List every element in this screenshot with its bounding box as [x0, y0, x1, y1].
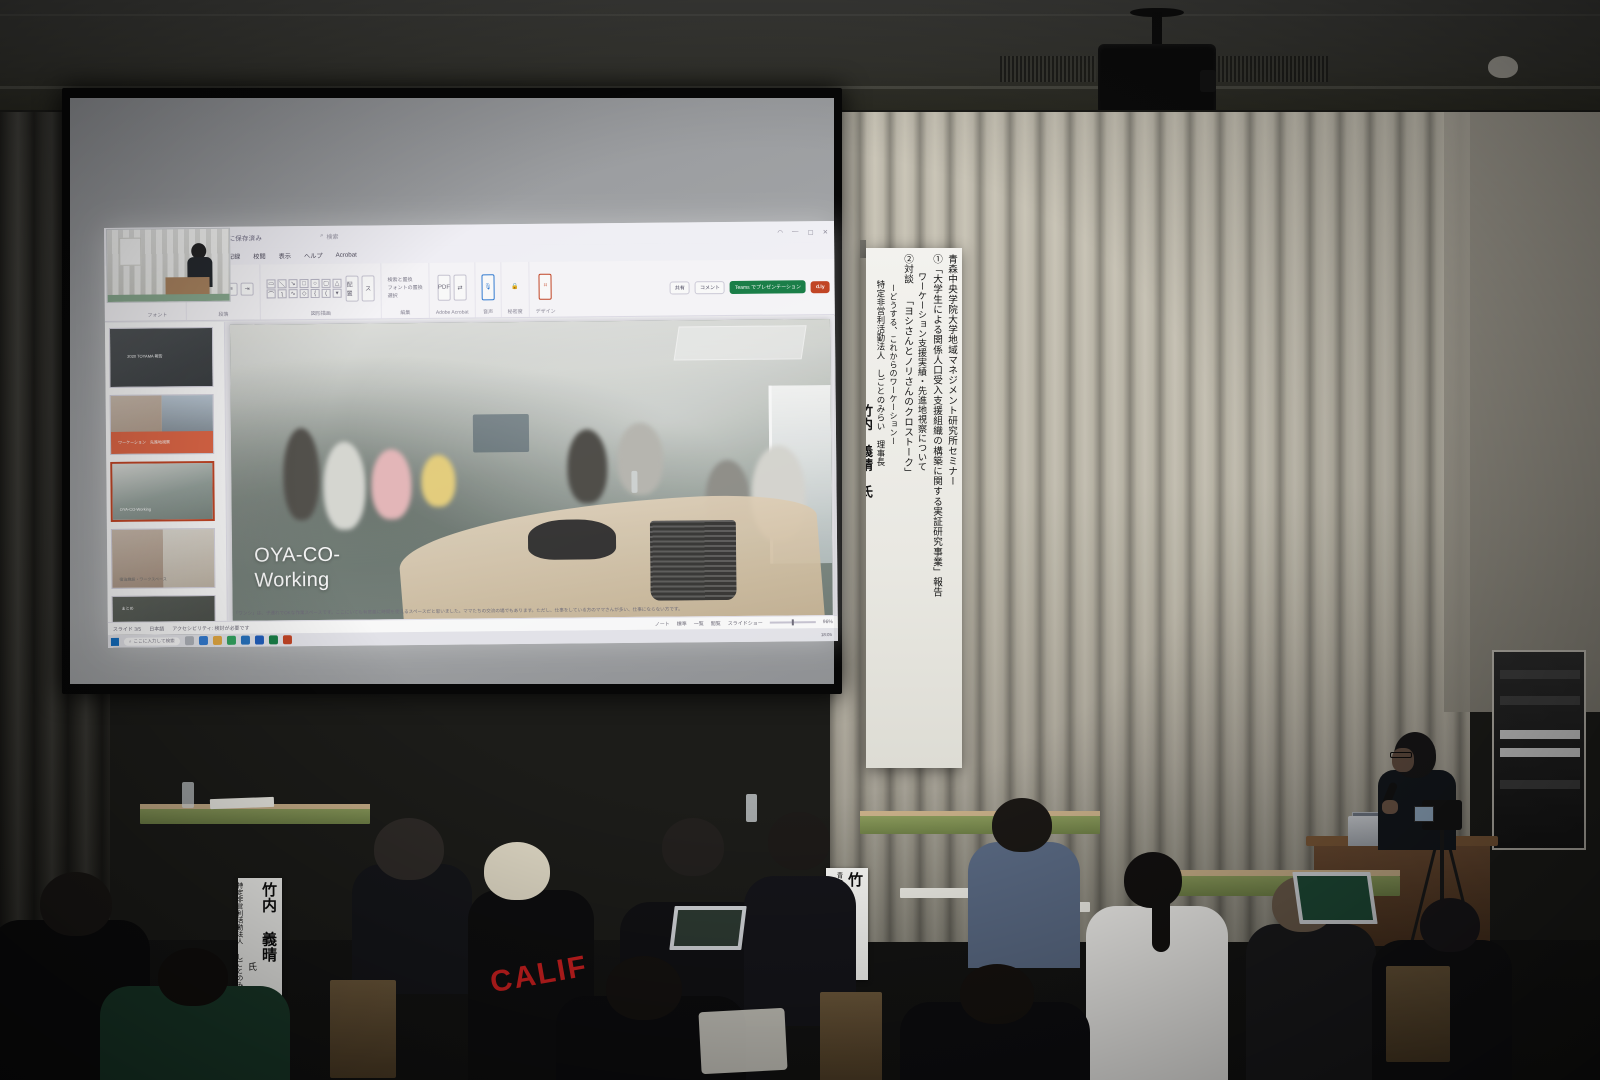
glasses-icon: [1390, 752, 1412, 758]
ribbon-group-label: 段落: [218, 311, 228, 320]
audience-head: [960, 964, 1034, 1024]
banner-line-topic-1-sub: ワーケーション支援実績・先進地視察について: [915, 272, 928, 762]
chair-back: [1386, 966, 1450, 1062]
shape-rect-icon[interactable]: ▭: [267, 279, 276, 288]
audience-head: [158, 948, 228, 1006]
chair-back: [330, 980, 396, 1078]
view-normal-button[interactable]: 標準: [677, 620, 687, 627]
photo-person: [567, 429, 608, 503]
shape-freeform-icon[interactable]: ʅ: [278, 289, 287, 298]
edge-icon[interactable]: [199, 636, 208, 645]
share-pdf-link-icon[interactable]: ⇄: [453, 275, 466, 301]
placard-affiliation: 特定非営利活動法人 しごとのみらい 理事長: [238, 882, 244, 992]
audience-laptop-screen: [674, 910, 742, 946]
zoom-level[interactable]: 96%: [823, 619, 833, 625]
seminar-hall-scene: 総括書_221128 修я拡張 • このPC に保存済み ⌕ 検索 ◠ — ▢ …: [0, 0, 1600, 1080]
audience-head: [606, 956, 682, 1020]
ceiling-vent-left: [1000, 56, 1096, 82]
restore-button[interactable]: ▢: [807, 228, 813, 236]
window-controls: ◠ — ▢ ✕: [777, 228, 828, 236]
sensitivity-icon[interactable]: 🔒: [508, 273, 521, 299]
account-icon[interactable]: ◠: [777, 228, 783, 236]
slide-thumbnail[interactable]: 2 ワーケーション 先進地視察: [110, 394, 215, 455]
projection-screen-frame: 総括書_221128 修я拡張 • このPC に保存済み ⌕ 検索 ◠ — ▢ …: [62, 88, 842, 694]
share-button[interactable]: 共有: [670, 281, 690, 294]
shape-square-icon[interactable]: □: [299, 279, 308, 288]
search-icon: ⌕: [129, 639, 132, 644]
comments-button[interactable]: コメント: [695, 281, 725, 294]
audience-person: [968, 842, 1080, 968]
photo-basket: [650, 520, 737, 601]
view-sorter-button[interactable]: 一覧: [694, 620, 704, 627]
projected-powerpoint-window[interactable]: 総括書_221128 修я拡張 • このPC に保存済み ⌕ 検索 ◠ — ▢ …: [104, 221, 838, 648]
slide-indicator: スライド 3/5: [113, 625, 141, 632]
ribbon-group-label: Adobe Acrobat: [436, 310, 469, 318]
shape-rounded-icon[interactable]: ▢: [321, 279, 330, 288]
folder-icon[interactable]: [213, 636, 222, 645]
audience-person: [1246, 924, 1376, 1080]
rack-slot: [1500, 748, 1580, 757]
webcam-floor-strip: [108, 294, 230, 302]
audience-head: [662, 818, 724, 876]
present-in-teams-button[interactable]: Teams でプレゼンテーション: [730, 280, 806, 294]
indent-icon[interactable]: ⇥: [241, 283, 254, 296]
quick-style-icon[interactable]: ス: [361, 275, 374, 301]
tab-view[interactable]: 表示: [279, 251, 291, 260]
smoke-detector: [1488, 56, 1518, 78]
audience-head: [992, 798, 1052, 852]
ribbon-group-label: 音声: [483, 308, 493, 317]
ribbon-group-label: 秘密度: [508, 308, 523, 317]
wall-panel-right: [1444, 112, 1600, 712]
audience-foreground: 竹内 義晴 氏 特定非営利活動法人 しごとのみらい 理事長 竹 青森中央学院大学…: [0, 780, 1600, 1080]
ribbon-group-voice: 🎙 音声: [475, 262, 502, 317]
thumbnail-title: 宿泊施設・ワークスペース: [116, 573, 170, 586]
ribbon-group-drawing: ▭ ＼ ↘ □ ○ ▢ △ ⌒ ʅ ∿ ◇ {: [260, 263, 382, 319]
water-bottle: [746, 794, 757, 822]
desk-edge: [860, 811, 1100, 816]
shape-scribble-icon[interactable]: ∿: [289, 289, 298, 298]
audience-head: [1420, 898, 1480, 952]
replace-font-label[interactable]: フォントの置換: [388, 284, 423, 291]
ribbon-group-editing: 検索と置換 フォントの置換 選択 編集: [381, 263, 430, 318]
audience-head: [374, 818, 444, 880]
create-pdf-icon[interactable]: PDF: [437, 275, 450, 301]
tab-acrobat[interactable]: Acrobat: [336, 252, 357, 259]
accessibility-indicator[interactable]: アクセシビリティ: 検討が必要です: [172, 624, 249, 632]
shape-triangle-icon[interactable]: △: [332, 279, 341, 288]
ceiling-vent-right: [1218, 56, 1328, 82]
photo-ceiling-aircon: [674, 325, 807, 360]
dictation-icon[interactable]: 🎙: [481, 274, 494, 300]
placard-person-name: 竹内 義晴: [259, 882, 280, 992]
status-bar-right: ノート 標準 一覧 閲覧 スライドショー 96%: [655, 619, 833, 628]
shape-line-icon[interactable]: ＼: [278, 279, 287, 288]
placard-takeuchi-yoshiharu: 竹内 義晴 氏 特定非営利活動法人 しごとのみらい 理事長: [238, 878, 282, 996]
photo-person: [323, 442, 366, 530]
ribbon-right-actions: 共有 コメント Teams でプレゼンテーション d.ly: [670, 259, 835, 316]
webcam-inset[interactable]: [106, 228, 231, 303]
rack-slot: [1500, 670, 1580, 679]
slide-caption: OYA-CO- Working: [254, 543, 341, 593]
chrome-icon[interactable]: [227, 636, 236, 645]
photo-person: [371, 449, 412, 519]
photo-person: [283, 428, 320, 520]
ribbon-group-acrobat: PDF ⇄ Adobe Acrobat: [429, 262, 475, 317]
event-banner: 青森中央学院大学地域マネジメント研究所セミナー ①「大学生による関係人口受入支援…: [866, 248, 962, 768]
projector-mount-arm: [1152, 12, 1162, 46]
audience-laptop-screen: [1297, 876, 1373, 920]
slide-caption-line-2: Working: [254, 567, 340, 592]
ribbon-group-items: ⌗: [539, 265, 552, 308]
slide-caption-line-1: OYA-CO-: [254, 543, 340, 568]
ribbon-group-label: デザイン: [536, 308, 556, 317]
slide-thumbnail-selected[interactable]: 3 OYA-CO-Working: [110, 461, 215, 522]
find-replace-label[interactable]: 検索と置換: [387, 276, 412, 283]
rack-slot: [1500, 730, 1580, 739]
ribbon-group-items: 🔒: [508, 265, 521, 308]
projection-screen-surface: 総括書_221128 修я拡張 • このPC に保存済み ⌕ 検索 ◠ — ▢ …: [70, 98, 834, 684]
photo-bottle: [631, 471, 637, 493]
audience-head: [40, 872, 112, 936]
language-indicator[interactable]: 日本語: [149, 625, 164, 632]
taskbar-search-box[interactable]: ⌕ ここに入力して検索: [124, 637, 180, 646]
zoom-slider[interactable]: [770, 621, 816, 623]
ribbon-group-label: 編集: [400, 309, 410, 318]
thumbnail-title: 2020 TOYAMA 報告: [124, 350, 165, 362]
close-button[interactable]: ✕: [823, 228, 829, 236]
current-slide[interactable]: OYA-CO- Working: [230, 319, 833, 623]
webcam-wall-banner: [119, 238, 141, 266]
ceiling-seam-upper: [0, 14, 1600, 16]
shape-arrow-icon[interactable]: ↘: [289, 279, 298, 288]
shape-curve-icon[interactable]: ⌒: [267, 289, 276, 298]
thumbnail-title: ワーケーション 先進地視察: [115, 436, 173, 449]
slide-thumbnail[interactable]: 4 宿泊施設・ワークスペース: [111, 528, 216, 589]
ribbon-group-items: 検索と置換 フォントの置換 選択: [387, 266, 422, 309]
ribbon-group-label: フォント: [147, 311, 167, 320]
shape-circle-icon[interactable]: ○: [310, 279, 319, 288]
shape-brace-icon[interactable]: {: [311, 289, 320, 298]
arrange-icon[interactable]: 配置: [345, 275, 358, 301]
word-icon[interactable]: [255, 635, 264, 644]
search-placeholder: 検索: [326, 232, 338, 241]
shape-gallery[interactable]: ▭ ＼ ↘ □ ○ ▢ △ ⌒ ʅ ∿ ◇ {: [267, 279, 343, 299]
minimize-button[interactable]: —: [792, 228, 799, 235]
photo-bag: [528, 519, 616, 560]
handout-paper: [900, 888, 970, 898]
audience-head: [768, 812, 830, 870]
slide-number: 4: [111, 532, 112, 538]
shape-paren-icon[interactable]: (: [322, 289, 331, 298]
taskbar-search-placeholder: ここに入力して検索: [134, 638, 175, 644]
banner-line-topic-1: ①「大学生による関係人口受入支援組織の構築に関する実証研究事業」報告: [929, 254, 943, 762]
banner-line-topic-2: ②対談 「ヨシさんとノリさんのクロストーク」: [900, 254, 914, 762]
excel-icon[interactable]: [269, 635, 278, 644]
ribbon-group-items: ▭ ＼ ↘ □ ○ ▢ △ ⌒ ʅ ∿ ◇ {: [266, 266, 374, 310]
photo-person: [421, 455, 455, 507]
designer-icon[interactable]: ⌗: [539, 273, 552, 299]
ribbon-group-design: ⌗ デザイン: [529, 262, 562, 317]
ribbon-group-sensitivity: 🔒 秘密度: [501, 262, 530, 317]
slide-number: 2: [110, 398, 111, 404]
desk: [860, 816, 1100, 834]
photo-monitor: [473, 414, 529, 453]
shape-diamond-icon[interactable]: ◇: [300, 289, 309, 298]
banner-line-title: 青森中央学院大学地域マネジメント研究所セミナー: [944, 254, 958, 762]
thumbnail-title: まとめ: [119, 603, 137, 615]
thumbnail-title: OYA-CO-Working: [117, 504, 155, 516]
ribbon-group-items: PDF ⇄: [437, 266, 466, 310]
search-icon: ⌕: [320, 233, 323, 240]
slide-editing-canvas[interactable]: OYA-CO- Working: [225, 316, 838, 621]
tote-bag: [698, 1008, 787, 1074]
windows-start-icon[interactable]: [111, 637, 119, 645]
ponytail: [1152, 888, 1170, 952]
taskbar-pinned-icon[interactable]: [185, 636, 194, 645]
shape-more-icon[interactable]: ▾: [333, 289, 342, 298]
tray-time[interactable]: 18:05: [821, 632, 832, 637]
banner-line-affiliation-1: 特定非営利活動法人 しごとのみらい 理事長: [875, 280, 887, 762]
banner-line-topic-2-sub: ーどうする、これからのワーケーションー: [888, 284, 899, 762]
ribbon-group-items: 🎙: [481, 265, 494, 308]
water-bottle: [182, 782, 194, 808]
tab-help[interactable]: ヘルプ: [304, 251, 323, 260]
view-slideshow-button[interactable]: スライドショー: [728, 619, 763, 626]
slide-thumbnail-panel[interactable]: 1 2020 TOYAMA 報告 2 ワーケーション 先進地視察: [105, 322, 228, 622]
chair-back: [820, 992, 882, 1080]
search-box[interactable]: ⌕ 検索: [320, 232, 338, 241]
audience-person: [352, 864, 472, 994]
powerpoint-icon[interactable]: [283, 635, 292, 644]
banner-line-speaker-1: 竹内 義晴 氏: [866, 404, 874, 762]
view-notes-button[interactable]: ノート: [655, 620, 670, 627]
ceiling-projector: [1098, 44, 1216, 116]
mail-icon[interactable]: [241, 636, 250, 645]
view-reading-button[interactable]: 閲覧: [711, 620, 721, 627]
slide-thumbnail[interactable]: 1 2020 TOYAMA 報告: [109, 327, 214, 388]
ribbon-group-label: 図形描画: [311, 310, 331, 319]
select-label[interactable]: 選択: [388, 292, 398, 299]
audience-head-blonde: [484, 842, 550, 900]
desk: [140, 808, 370, 824]
projector-lens: [1200, 70, 1216, 92]
addin-button[interactable]: d.ly: [811, 281, 830, 293]
photo-person: [617, 423, 664, 495]
rack-slot: [1500, 696, 1580, 705]
tab-review[interactable]: 校閲: [253, 251, 265, 260]
taskbar-tray: 18:05: [821, 632, 835, 637]
